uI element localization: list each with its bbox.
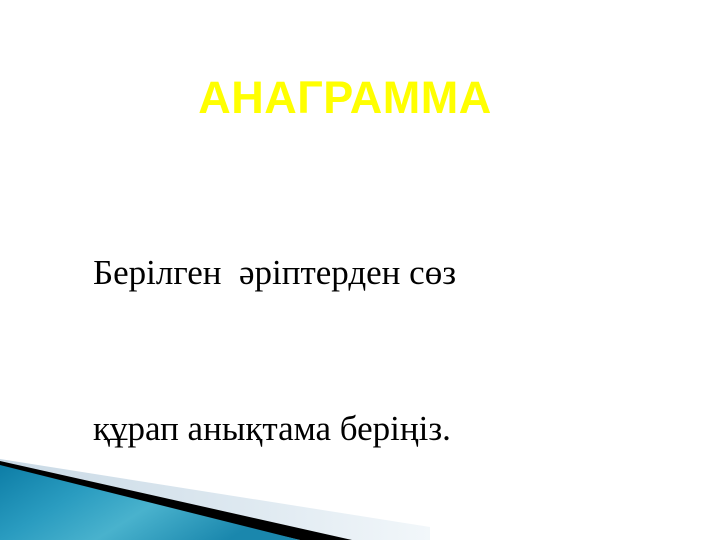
body-line-1: Берілген әріптерден сөз bbox=[93, 247, 653, 299]
slide-body-text: Берілген әріптерден сөз құрап анықтама б… bbox=[93, 143, 653, 540]
slide-canvas: АНАГРАММА Берілген әріптерден сөз құрап … bbox=[0, 0, 720, 540]
page-title: АНАГРАММА bbox=[0, 72, 690, 124]
body-line-2: құрап анықтама беріңіз. bbox=[93, 403, 653, 455]
